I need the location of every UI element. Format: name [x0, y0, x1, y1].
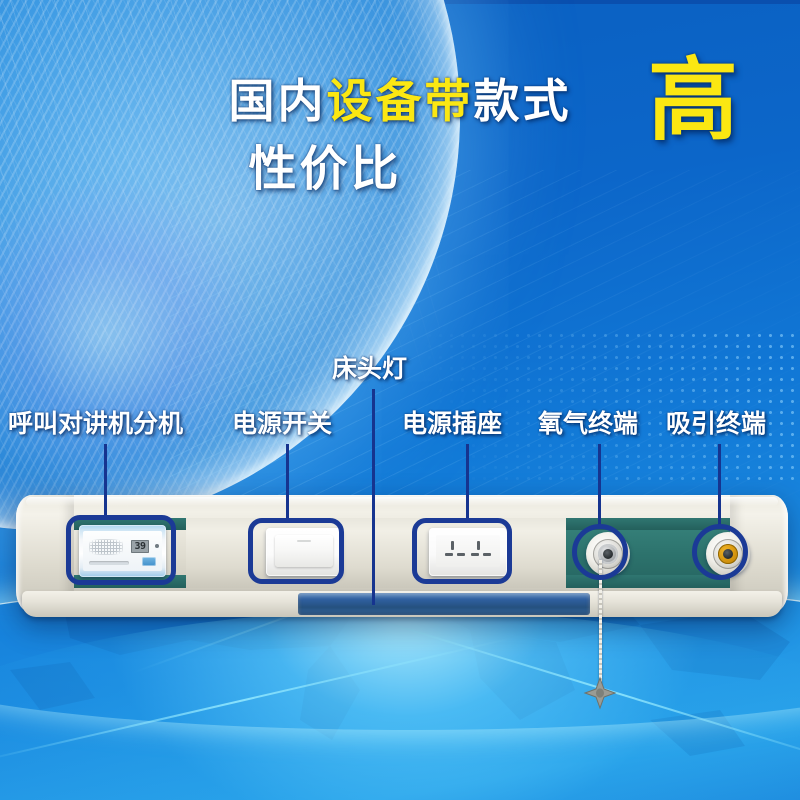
leader-line-socket	[466, 444, 469, 522]
leader-line-bedlamp	[372, 389, 375, 605]
leader-line-intercom	[104, 444, 107, 520]
callout-layer: 呼叫对讲机分机 电源开关 床头灯 电源插座 氧气终端 吸引终端	[0, 0, 800, 800]
callout-suction: 吸引终端	[666, 412, 766, 437]
promo-banner: 国内设备带款式 性价比 高 呼叫对讲机分机 电源开关 床头灯 电源插座 氧气终端…	[0, 0, 800, 800]
highlight-intercom	[66, 515, 176, 585]
callout-label-intercom: 呼叫对讲机分机	[8, 412, 183, 437]
highlight-switch	[248, 518, 344, 584]
leader-line-oxygen	[598, 444, 601, 528]
leader-line-suction	[718, 444, 721, 528]
highlight-suction	[692, 524, 748, 580]
highlight-socket	[412, 518, 512, 584]
callout-label-bedlamp: 床头灯	[332, 357, 407, 382]
highlight-oxygen	[572, 524, 628, 580]
callout-label-switch: 电源开关	[232, 412, 332, 437]
callout-label-suction: 吸引终端	[666, 412, 766, 437]
callout-bedlamp: 床头灯	[332, 357, 407, 382]
callout-switch: 电源开关	[232, 412, 332, 437]
callout-label-socket: 电源插座	[402, 412, 502, 437]
callout-intercom: 呼叫对讲机分机	[8, 412, 183, 437]
callout-label-oxygen: 氧气终端	[538, 412, 638, 437]
callout-socket: 电源插座	[402, 412, 502, 437]
callout-oxygen: 氧气终端	[538, 412, 638, 437]
leader-line-switch	[286, 444, 289, 522]
